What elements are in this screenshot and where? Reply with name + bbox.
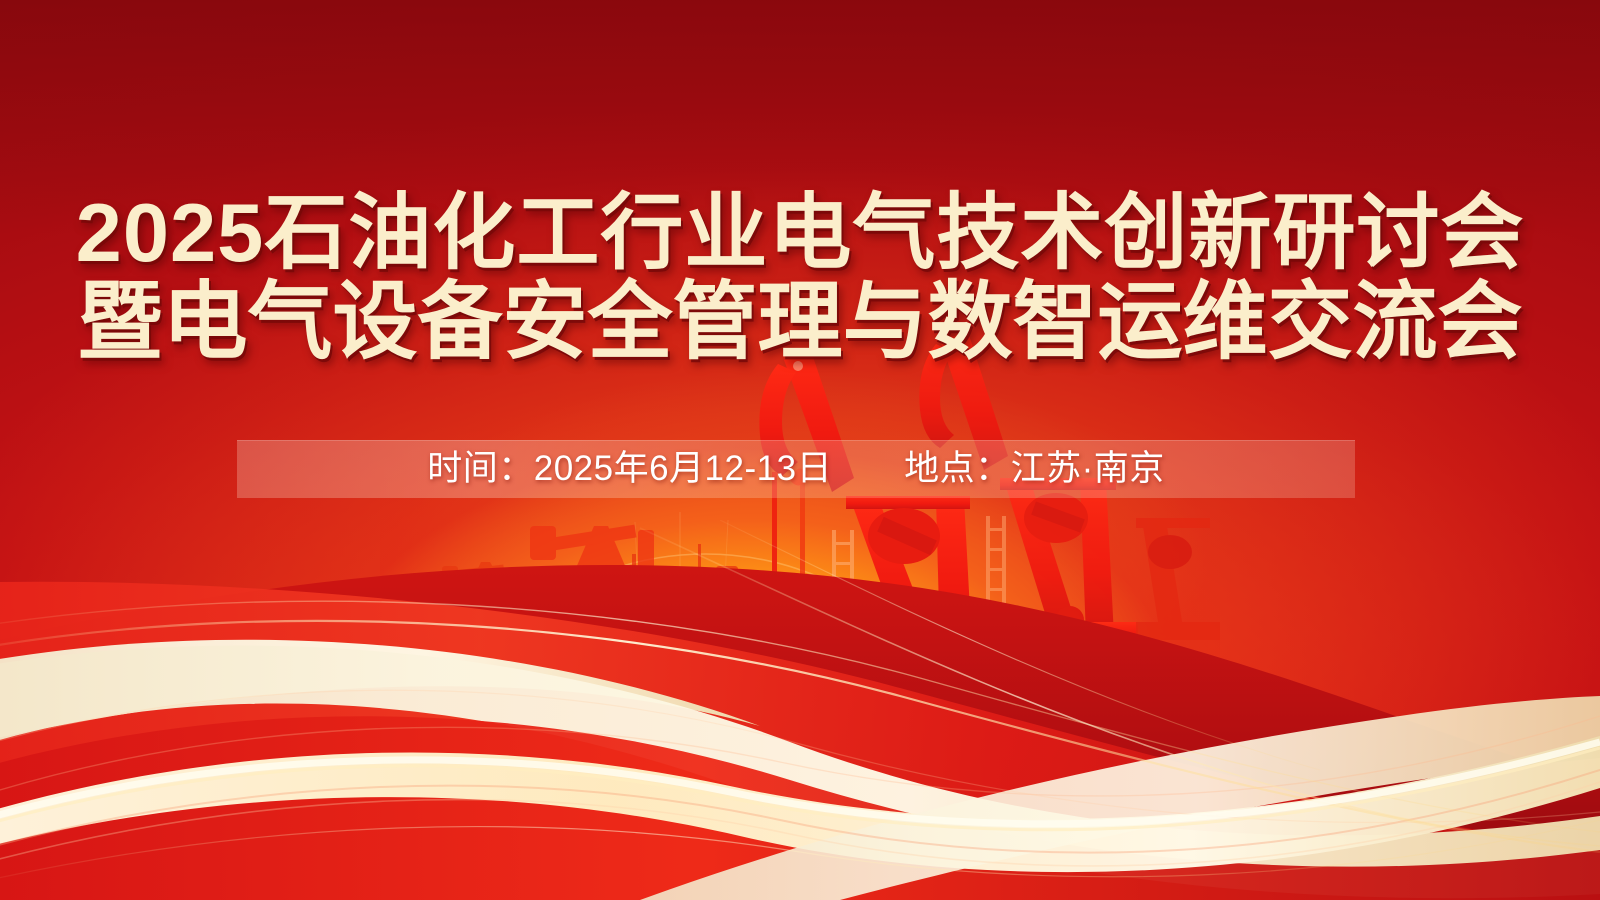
event-location: 地点：江苏·南京	[904, 440, 1165, 498]
title-line-1: 2025石油化工行业电气技术创新研讨会	[0, 188, 1600, 278]
ribbon-waves	[0, 520, 1600, 900]
title-line-2: 暨电气设备安全管理与数智运维交流会	[0, 278, 1600, 368]
conference-banner: 2025石油化工行业电气技术创新研讨会 暨电气设备安全管理与数智运维交流会 时间…	[0, 0, 1600, 900]
info-row: 时间：2025年6月12-13日 地点：江苏·南京	[237, 440, 1355, 498]
banner-title: 2025石油化工行业电气技术创新研讨会 暨电气设备安全管理与数智运维交流会	[0, 188, 1600, 368]
event-time: 时间：2025年6月12-13日	[427, 440, 832, 498]
